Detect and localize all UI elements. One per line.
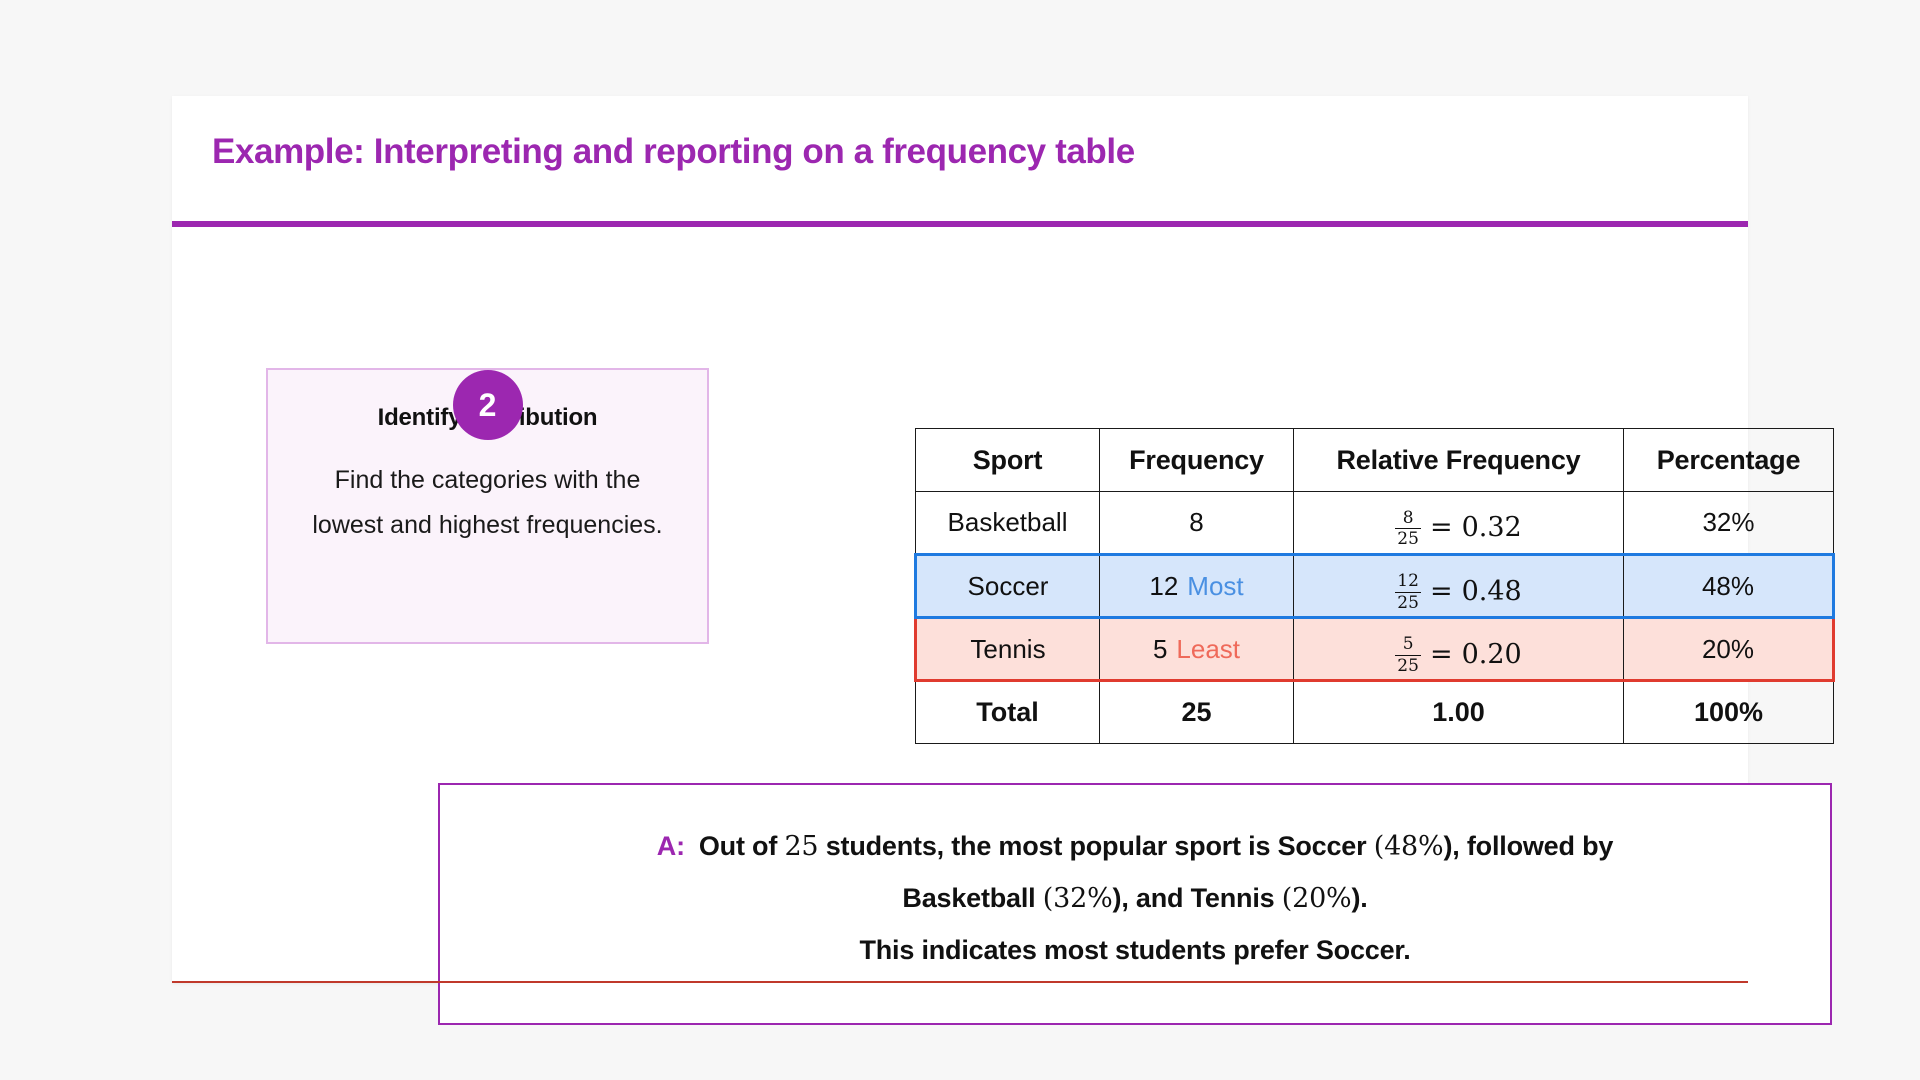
answer-soccer-percentage: 48% — [1384, 831, 1443, 862]
frequency-value: 5 — [1153, 634, 1167, 664]
fraction: 8 25 — [1395, 509, 1421, 549]
frequency-table-wrapper: Sport Frequency Relative Frequency Perce… — [914, 428, 1832, 744]
step-number-badge: 2 — [453, 370, 523, 440]
answer-text-e: ), and Tennis — [1113, 883, 1282, 913]
answer-paren-open-3: ( — [1282, 883, 1292, 914]
relative-frequency-value: 0.20 — [1462, 641, 1522, 668]
relative-frequency-math: 8 25 = 0.32 — [1395, 508, 1521, 548]
cell-total-frequency: 25 — [1100, 681, 1294, 744]
slide-container: Example: Interpreting and reporting on a… — [172, 96, 1748, 983]
slide-bottom-rule — [172, 981, 1748, 983]
header-frequency: Frequency — [1100, 429, 1294, 492]
table-row-total: Total 25 1.00 100% — [916, 681, 1834, 744]
answer-paren-open: ( — [1374, 831, 1384, 862]
page-title: Example: Interpreting and reporting on a… — [212, 132, 1748, 172]
relative-frequency-value: 0.48 — [1462, 578, 1522, 605]
answer-tennis-percentage: 20% — [1292, 883, 1351, 914]
relative-frequency-math: 5 25 = 0.20 — [1395, 634, 1521, 674]
fraction-denominator: 25 — [1395, 592, 1421, 612]
cell-frequency: 8 — [1100, 492, 1294, 555]
frequency-value: 8 — [1189, 507, 1203, 537]
answer-total-value: 25 — [784, 831, 818, 862]
header-percentage: Percentage — [1624, 429, 1834, 492]
answer-text-c: ), followed by — [1444, 831, 1614, 861]
relative-frequency-value: 0.32 — [1462, 514, 1522, 541]
answer-box: A:Out of 25 students, the most popular s… — [438, 783, 1832, 1025]
least-tag: Least — [1176, 634, 1240, 664]
table-row: Basketball 8 8 25 = 0.32 — [916, 492, 1834, 555]
cell-relative-frequency: 5 25 = 0.20 — [1294, 618, 1624, 681]
step-card-wrapper: 2 Identify distribution Find the categor… — [266, 333, 709, 644]
cell-relative-frequency: 8 25 = 0.32 — [1294, 492, 1624, 555]
table-header-row: Sport Frequency Relative Frequency Perce… — [916, 429, 1834, 492]
cell-total-relative-frequency: 1.00 — [1294, 681, 1624, 744]
table-row-highlight-least: Tennis 5Least 5 25 = 0.20 — [916, 618, 1834, 681]
answer-text-f: ). — [1352, 883, 1368, 913]
answer-line-2: Basketball (32%), and Tennis (20%). — [480, 873, 1790, 925]
cell-percentage: 48% — [1624, 555, 1834, 618]
equals-sign: = — [1430, 641, 1453, 668]
cell-total-percentage: 100% — [1624, 681, 1834, 744]
equals-sign: = — [1430, 514, 1453, 541]
step-body-text: Find the categories with the lowest and … — [298, 458, 677, 547]
answer-basketball-percentage: 32% — [1053, 883, 1112, 914]
answer-text-a: Out of — [699, 831, 785, 861]
cell-percentage: 20% — [1624, 618, 1834, 681]
fraction: 5 25 — [1395, 635, 1421, 675]
title-divider — [172, 221, 1748, 227]
header-sport: Sport — [916, 429, 1100, 492]
frequency-value: 12 — [1149, 571, 1178, 601]
relative-frequency-math: 12 25 = 0.48 — [1395, 571, 1521, 611]
fraction-numerator: 8 — [1401, 509, 1416, 528]
answer-line-3: This indicates most students prefer Socc… — [480, 925, 1790, 976]
frequency-table: Sport Frequency Relative Frequency Perce… — [914, 428, 1835, 744]
cell-frequency: 12Most — [1100, 555, 1294, 618]
cell-relative-frequency: 12 25 = 0.48 — [1294, 555, 1624, 618]
answer-text-d: Basketball — [902, 883, 1042, 913]
fraction: 12 25 — [1395, 572, 1421, 612]
fraction-numerator: 12 — [1395, 572, 1421, 591]
cell-frequency: 5Least — [1100, 618, 1294, 681]
fraction-denominator: 25 — [1395, 655, 1421, 675]
answer-paren-open-2: ( — [1043, 883, 1053, 914]
cell-percentage: 32% — [1624, 492, 1834, 555]
cell-sport: Basketball — [916, 492, 1100, 555]
answer-line-1: A:Out of 25 students, the most popular s… — [480, 821, 1790, 873]
equals-sign: = — [1430, 578, 1453, 605]
answer-text-b: students, the most popular sport is Socc… — [818, 831, 1373, 861]
header-relative-frequency: Relative Frequency — [1294, 429, 1624, 492]
cell-sport: Soccer — [916, 555, 1100, 618]
cell-total-label: Total — [916, 681, 1100, 744]
fraction-numerator: 5 — [1401, 635, 1416, 654]
slide-header: Example: Interpreting and reporting on a… — [212, 132, 1748, 172]
answer-prefix: A: — [657, 831, 685, 861]
most-tag: Most — [1187, 571, 1243, 601]
table-row-highlight-most: Soccer 12Most 12 25 = 0.48 — [916, 555, 1834, 618]
fraction-denominator: 25 — [1395, 528, 1421, 548]
cell-sport: Tennis — [916, 618, 1100, 681]
step-card: 2 Identify distribution Find the categor… — [266, 368, 709, 644]
